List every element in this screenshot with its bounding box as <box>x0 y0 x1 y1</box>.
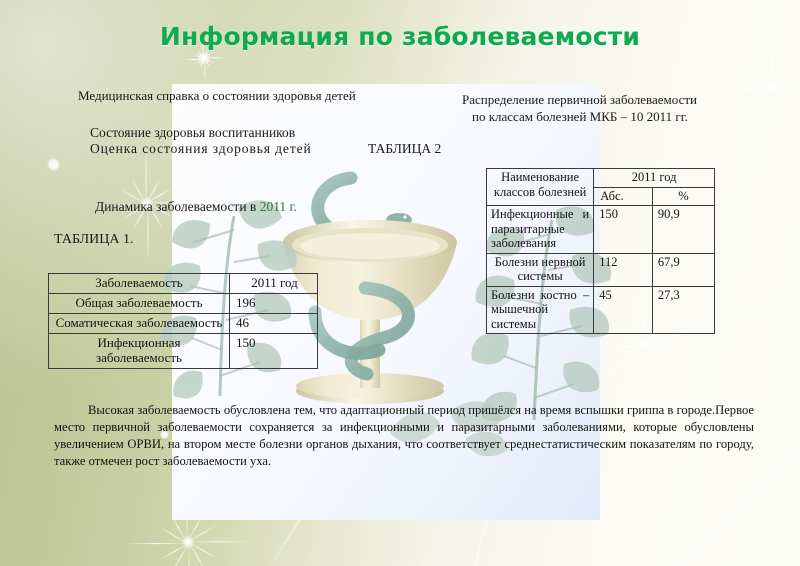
sparkle-ray <box>773 86 800 87</box>
table2-abs-header: Абс. <box>594 187 653 206</box>
sparkle-ray <box>773 86 796 100</box>
table2-year-header: 2011 год <box>594 169 715 188</box>
sparkle-ray <box>645 346 646 382</box>
sparkle-ray <box>159 543 189 561</box>
table2-row1-pct: 67,9 <box>652 253 714 286</box>
medical-certificate-line: Медицинская справка о состоянии здоровья… <box>78 88 356 104</box>
table1-row2-value: 150 <box>229 334 317 369</box>
sparkle-ray <box>726 88 773 89</box>
sparkle-ray <box>773 87 787 110</box>
table2-row2-name: Болезни костно – мышечной системы <box>487 286 594 334</box>
sparkle-ray <box>204 58 211 68</box>
morbidity-dynamics-table: Заболеваемость 2011 год Общая заболеваем… <box>48 273 318 369</box>
table2-name-header: Наименование классов болезней <box>487 169 594 206</box>
table2-row1-name: Болезни нервной системы <box>487 253 594 286</box>
sparkle-ray <box>188 541 250 542</box>
summary-paragraph: Высокая заболеваемость обусловлена тем, … <box>54 402 754 470</box>
table2-row2-pct: 27,3 <box>652 286 714 334</box>
table-row: Общая заболеваемость 196 <box>49 294 318 314</box>
table2-row0-abs: 150 <box>594 206 653 254</box>
sparkle-ray <box>645 344 663 355</box>
sparkle-ray <box>751 88 774 102</box>
sparkle-ray <box>194 59 204 66</box>
health-assessment-line: Оценка состояния здоровья детей <box>90 141 312 157</box>
sparkle-ray <box>198 59 205 69</box>
dynamics-line: Динамика заболеваемости в 2011 г. <box>95 199 297 215</box>
sparkle-ray <box>760 88 774 111</box>
table2-pct-header: % <box>652 187 714 206</box>
sparkle-core <box>638 338 652 352</box>
sparkle-ray <box>188 541 218 559</box>
table-row: Инфекционные и паразитарные заболевания … <box>487 206 715 254</box>
sparkle-core <box>181 535 195 549</box>
page-title: Информация по заболеваемости <box>0 22 800 51</box>
sparkle-ray <box>759 66 773 89</box>
table2-row0-pct: 90,9 <box>652 206 714 254</box>
table-row: Инфекционная заболеваемость 150 <box>49 334 318 369</box>
dynamics-line-year: 2011 г. <box>260 199 297 214</box>
sparkle-ray <box>183 59 204 60</box>
table1-header-label: Заболеваемость <box>49 274 230 294</box>
sparkle-ray <box>194 53 204 60</box>
table1-header-value: 2011 год <box>229 274 317 294</box>
icd10-distribution-table: Наименование классов болезней 2011 год А… <box>486 168 715 334</box>
sparkle-ray <box>635 346 646 364</box>
sparkle-ray <box>772 74 795 88</box>
table-row: Болезни нервной системы 112 67,9 <box>487 253 715 286</box>
table1-label: ТАБЛИЦА 1. <box>54 232 133 248</box>
slide-canvas: Информация по заболеваемости Медицинская… <box>0 0 800 566</box>
table-row: Соматическая заболеваемость 46 <box>49 314 318 334</box>
table-row: Болезни костно – мышечной системы 45 27,… <box>487 286 715 334</box>
table2-row0-name: Инфекционные и паразитарные заболевания <box>487 206 594 254</box>
sparkle-top-right <box>728 42 800 132</box>
sparkle-ray <box>772 65 786 88</box>
table2-row1-abs: 112 <box>594 253 653 286</box>
table1-row1-label: Соматическая заболеваемость <box>49 314 230 334</box>
light-dot-1 <box>47 158 60 171</box>
sparkle-ray <box>609 346 645 347</box>
distribution-heading-line2: по классам болезней МКБ – 10 2011 гг. <box>472 109 688 125</box>
sparkle-ray <box>645 344 681 345</box>
sparkle-ray <box>773 88 774 135</box>
sparkle-ray <box>126 543 188 544</box>
sparkle-ray <box>203 52 213 59</box>
sparkle-ray <box>627 336 645 347</box>
sparkle-ray <box>644 335 662 346</box>
dynamics-line-prefix: Динамика заболеваемости в <box>95 199 260 214</box>
table1-row1-value: 46 <box>229 314 317 334</box>
sparkle-ray <box>188 543 189 566</box>
sparkle-ray <box>645 345 656 363</box>
sparkle-ray <box>188 542 206 566</box>
table1-row0-value: 196 <box>229 294 317 314</box>
sparkle-core <box>766 80 780 94</box>
sparkle-core <box>197 51 211 65</box>
sparkle-ray <box>204 57 225 58</box>
sparkle-ray <box>158 526 188 544</box>
table2-label: ТАБЛИЦА 2 <box>368 141 441 157</box>
distribution-heading-line1: Распределение первичной заболеваемости <box>462 92 697 108</box>
sparkle-ray <box>171 543 189 566</box>
table2-row2-abs: 45 <box>594 286 653 334</box>
table-row-header-year: Наименование классов болезней 2011 год <box>487 169 715 188</box>
sparkle-ray <box>187 525 217 543</box>
table-row-header: Заболеваемость 2011 год <box>49 274 318 294</box>
table1-row0-label: Общая заболеваемость <box>49 294 230 314</box>
sparkle-ray <box>628 346 646 357</box>
health-state-line: Состояние здоровья воспитанников <box>90 125 295 141</box>
table1-row2-label: Инфекционная заболеваемость <box>49 334 230 369</box>
sparkle-ray <box>750 75 773 89</box>
sparkle-ray <box>204 57 214 64</box>
sparkle-ray <box>204 59 205 80</box>
